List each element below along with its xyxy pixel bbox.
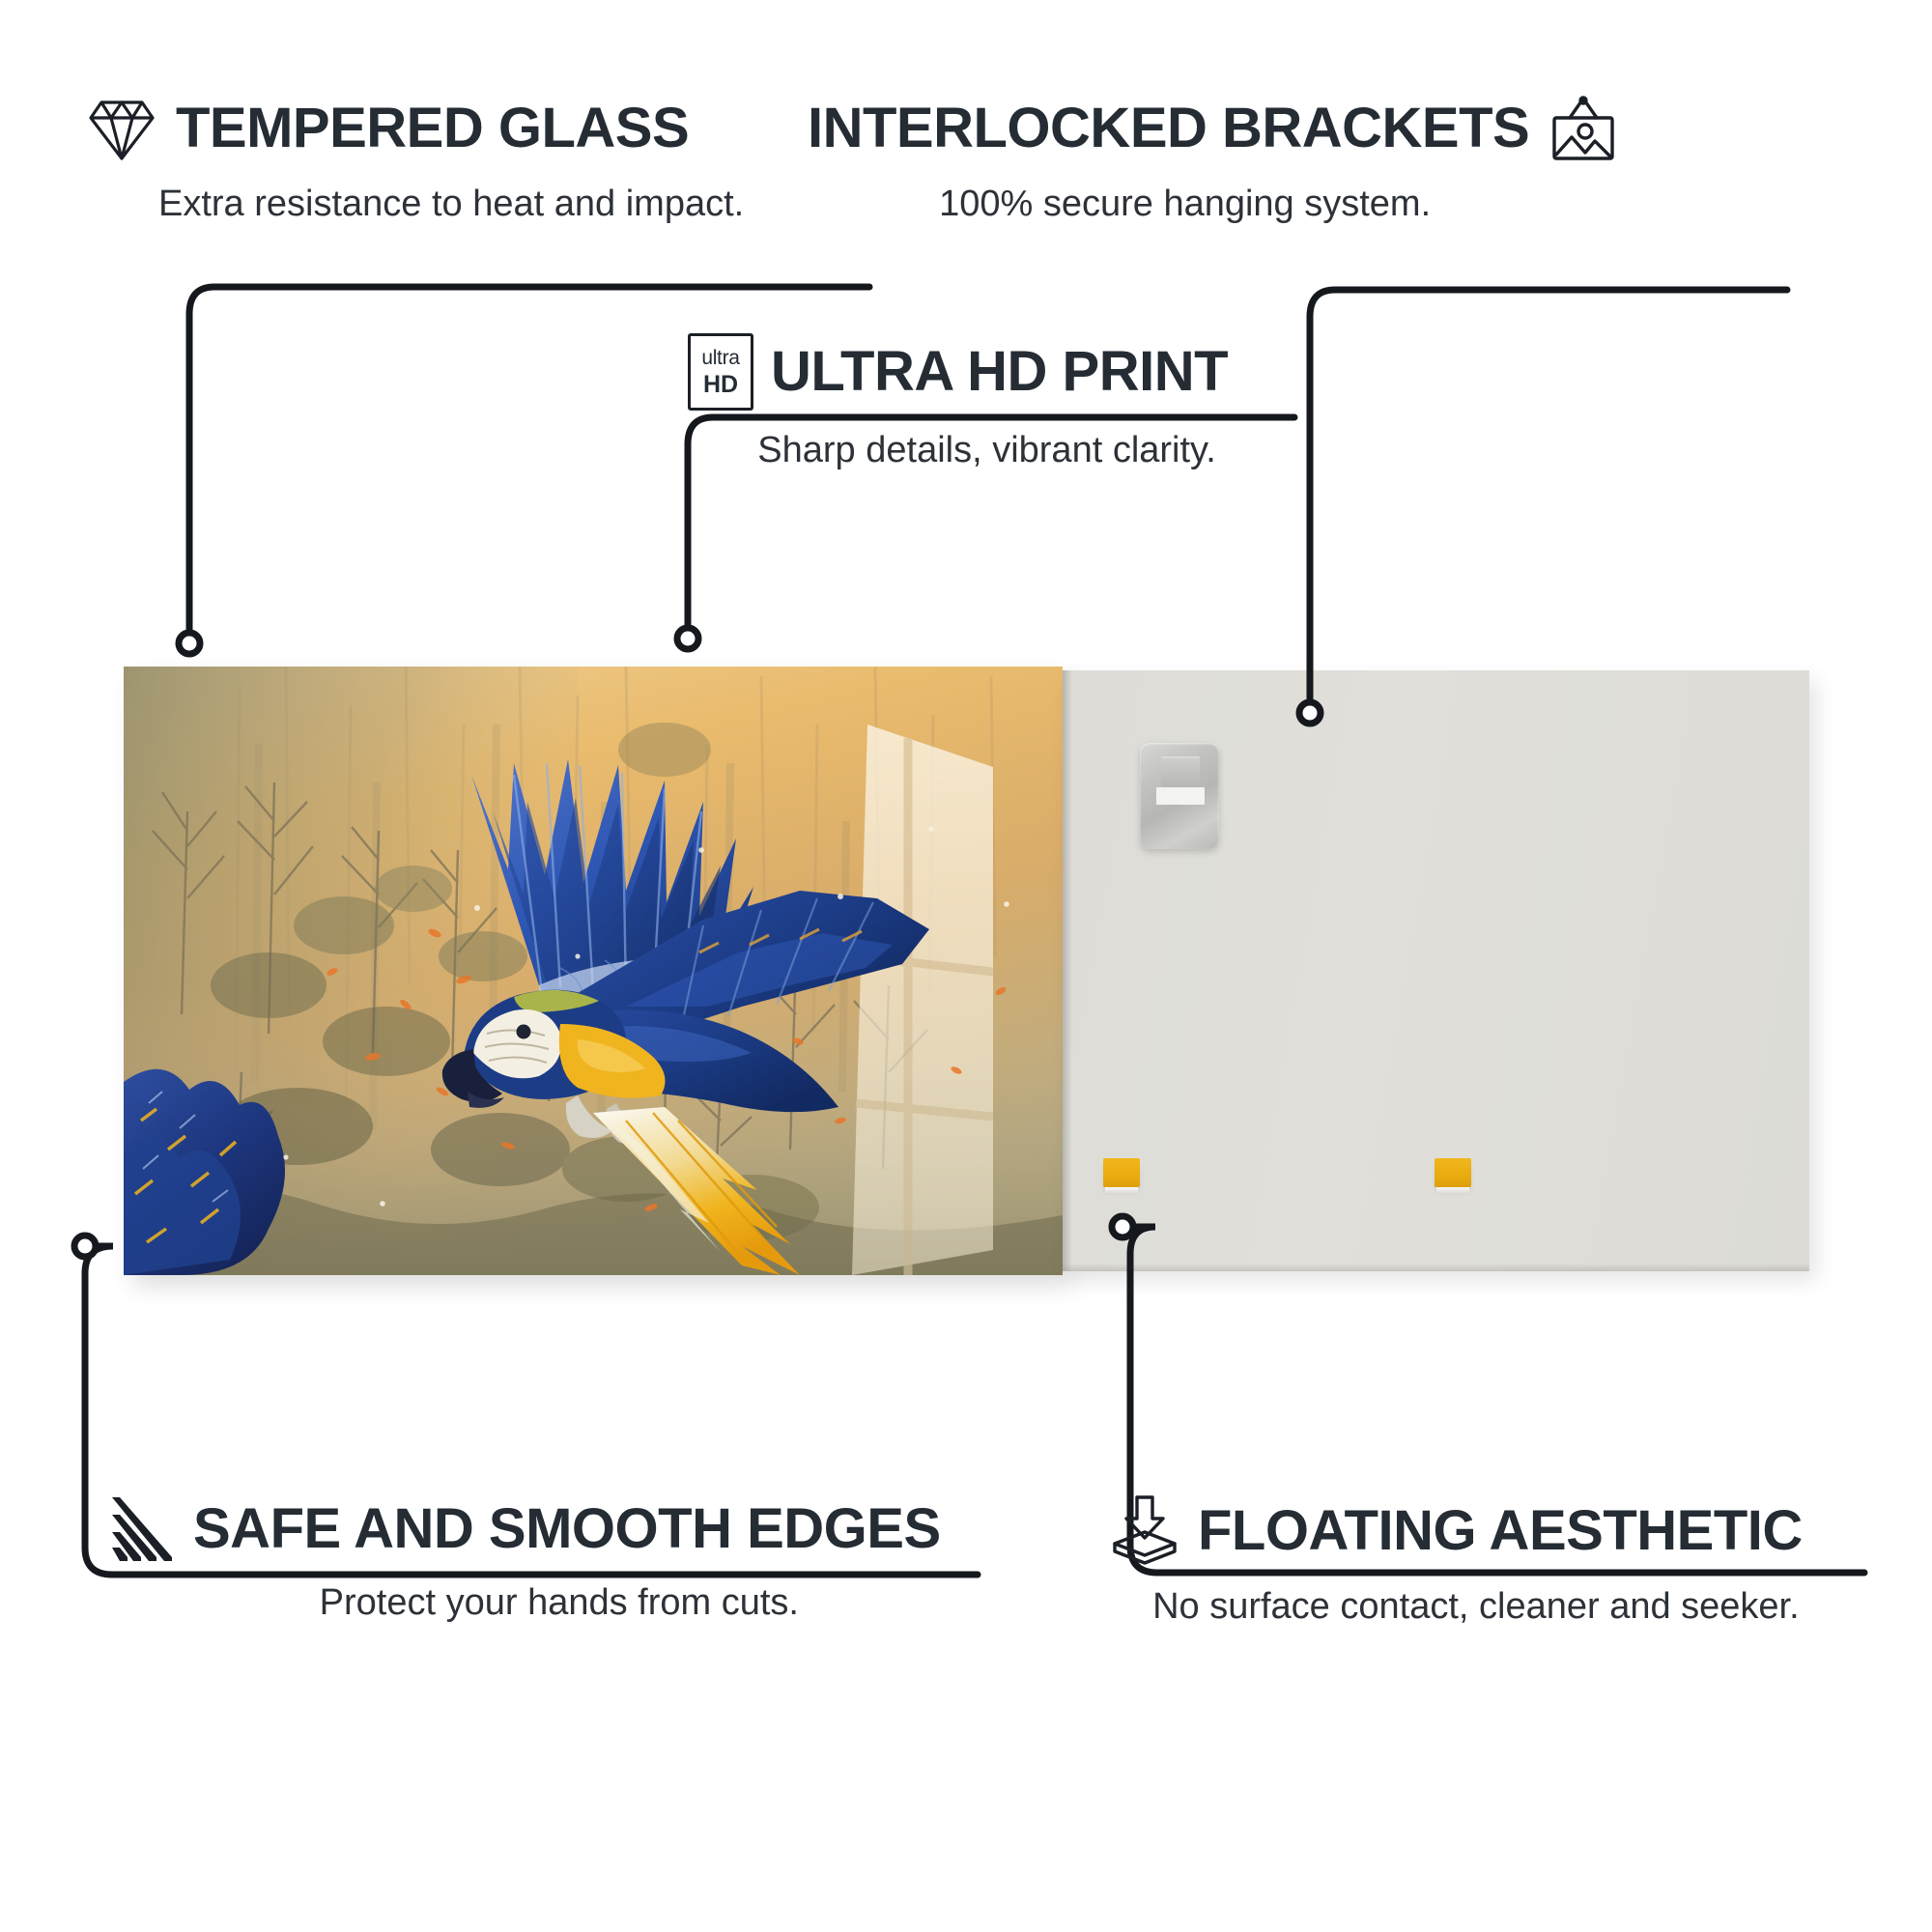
infographic-canvas: TEMPERED GLASS Extra resistance to heat … [0, 0, 1932, 1932]
connector-dot-tempered-glass [179, 633, 200, 654]
feature-subtitle: Extra resistance to heat and impact. [85, 184, 744, 226]
glass-back-face [1063, 670, 1809, 1271]
arrow-into-layers-icon [1109, 1495, 1180, 1567]
connector-dot-ultra-hd [677, 628, 698, 649]
connector-interlocked-brackets [1310, 290, 1787, 707]
yellow-standoff-spacer [1435, 1158, 1471, 1187]
feature-title: SAFE AND SMOOTH EDGES [193, 1501, 941, 1557]
feature-floating-aesthetic: FLOATING AESTHETIC No surface contact, c… [1109, 1495, 1803, 1629]
diamond-icon [85, 93, 158, 164]
feature-title: INTERLOCKED BRACKETS [808, 100, 1529, 156]
bracket-keyhole [1156, 787, 1205, 805]
feature-subtitle: Protect your hands from cuts. [104, 1582, 941, 1625]
ultra-hd-badge-line2: HD [703, 373, 738, 397]
connector-dot-safe-edges [74, 1236, 96, 1257]
feature-ultra-hd-print: ultra HD ULTRA HD PRINT Sharp details, v… [688, 333, 1228, 472]
feature-safe-and-smooth-edges: SAFE AND SMOOTH EDGES Protect your hands… [104, 1495, 941, 1625]
feature-tempered-glass: TEMPERED GLASS Extra resistance to heat … [85, 93, 744, 226]
feature-subtitle: 100% secure hanging system. [808, 184, 1620, 226]
feature-subtitle: Sharp details, vibrant clarity. [688, 430, 1228, 472]
printed-glass-artwork [124, 667, 1063, 1275]
ultra-hd-badge-icon: ultra HD [688, 333, 753, 411]
yellow-standoff-spacer [1103, 1158, 1140, 1187]
ultra-hd-badge-line1: ultra [701, 348, 739, 368]
diagonal-edges-icon [104, 1495, 176, 1563]
feature-title: TEMPERED GLASS [176, 100, 689, 156]
feature-title: ULTRA HD PRINT [771, 344, 1228, 400]
product-render [124, 667, 1809, 1275]
bracket-slot-top [1161, 756, 1200, 791]
feature-title: FLOATING AESTHETIC [1198, 1503, 1803, 1559]
hanging-picture-frame-icon [1547, 93, 1620, 164]
feature-subtitle: No surface contact, cleaner and seeker. [1109, 1586, 1803, 1629]
metal-hanging-bracket [1140, 743, 1219, 849]
feature-interlocked-brackets: INTERLOCKED BRACKETS 100% secure hanging… [808, 93, 1620, 226]
